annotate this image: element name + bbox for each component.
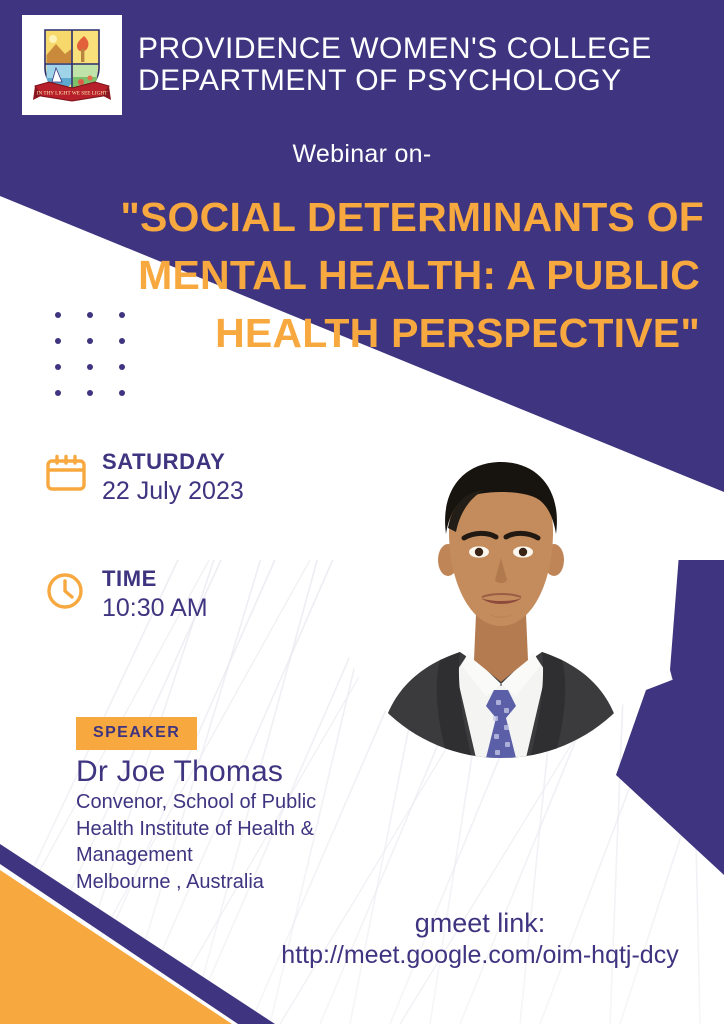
event-date-row: SATURDAY 22 July 2023 (44, 450, 244, 506)
grid-dot (55, 390, 61, 396)
event-time-value: 10:30 AM (102, 594, 208, 624)
grid-dot (87, 390, 93, 396)
grid-dot (119, 312, 125, 318)
meeting-link-block: gmeet link: http://meet.google.com/oim-h… (250, 908, 710, 970)
event-time-row: TIME 10:30 AM (44, 567, 208, 623)
webinar-poster: IN THY LIGHT WE SEE LIGHT PROVIDENCE WOM… (0, 0, 724, 1024)
calendar-icon (44, 452, 88, 496)
webinar-label: Webinar on- (0, 140, 724, 169)
portrait-image (336, 428, 666, 758)
crest-icon: IN THY LIGHT WE SEE LIGHT (29, 22, 115, 108)
affiliation-line-1: Convenor, School of Public (76, 789, 406, 816)
event-time-text: TIME 10:30 AM (102, 567, 208, 623)
grid-dot (55, 338, 61, 344)
affiliation-line-3: Management (76, 842, 406, 869)
title-line-2: MENTAL HEALTH: A PUBLIC (24, 246, 704, 304)
svg-text:IN THY LIGHT WE SEE LIGHT: IN THY LIGHT WE SEE LIGHT (37, 90, 108, 96)
meeting-link-label: gmeet link: (250, 908, 710, 940)
clock-icon (44, 569, 88, 613)
event-date-text: SATURDAY 22 July 2023 (102, 450, 244, 506)
speaker-portrait (336, 428, 666, 758)
event-day-label: SATURDAY (102, 450, 244, 475)
grid-dot (55, 364, 61, 370)
speaker-badge: SPEAKER (76, 717, 197, 750)
title-line-1: "SOCIAL DETERMINANTS OF (24, 188, 704, 246)
grid-dot (87, 338, 93, 344)
affiliation-line-4: Melbourne , Australia (76, 869, 406, 896)
event-time-label: TIME (102, 567, 208, 592)
meeting-link-url[interactable]: http://meet.google.com/oim-hqtj-dcy (250, 940, 710, 971)
college-name: PROVIDENCE WOMEN'S COLLEGE (138, 33, 652, 65)
organization-name: PROVIDENCE WOMEN'S COLLEGE DEPARTMENT OF… (138, 33, 652, 97)
grid-dot (55, 312, 61, 318)
dot-grid-decoration (55, 312, 151, 416)
grid-dot (119, 338, 125, 344)
speaker-name: Dr Joe Thomas (76, 755, 283, 789)
department-name: DEPARTMENT OF PSYCHOLOGY (138, 65, 652, 97)
grid-dot (119, 390, 125, 396)
college-crest-logo: IN THY LIGHT WE SEE LIGHT (22, 15, 122, 115)
speaker-affiliation: Convenor, School of Public Health Instit… (76, 789, 406, 895)
affiliation-line-2: Health Institute of Health & (76, 816, 406, 843)
event-date-value: 22 July 2023 (102, 477, 244, 507)
grid-dot (119, 364, 125, 370)
grid-dot (87, 312, 93, 318)
poster-header: IN THY LIGHT WE SEE LIGHT PROVIDENCE WOM… (0, 0, 724, 130)
grid-dot (87, 364, 93, 370)
